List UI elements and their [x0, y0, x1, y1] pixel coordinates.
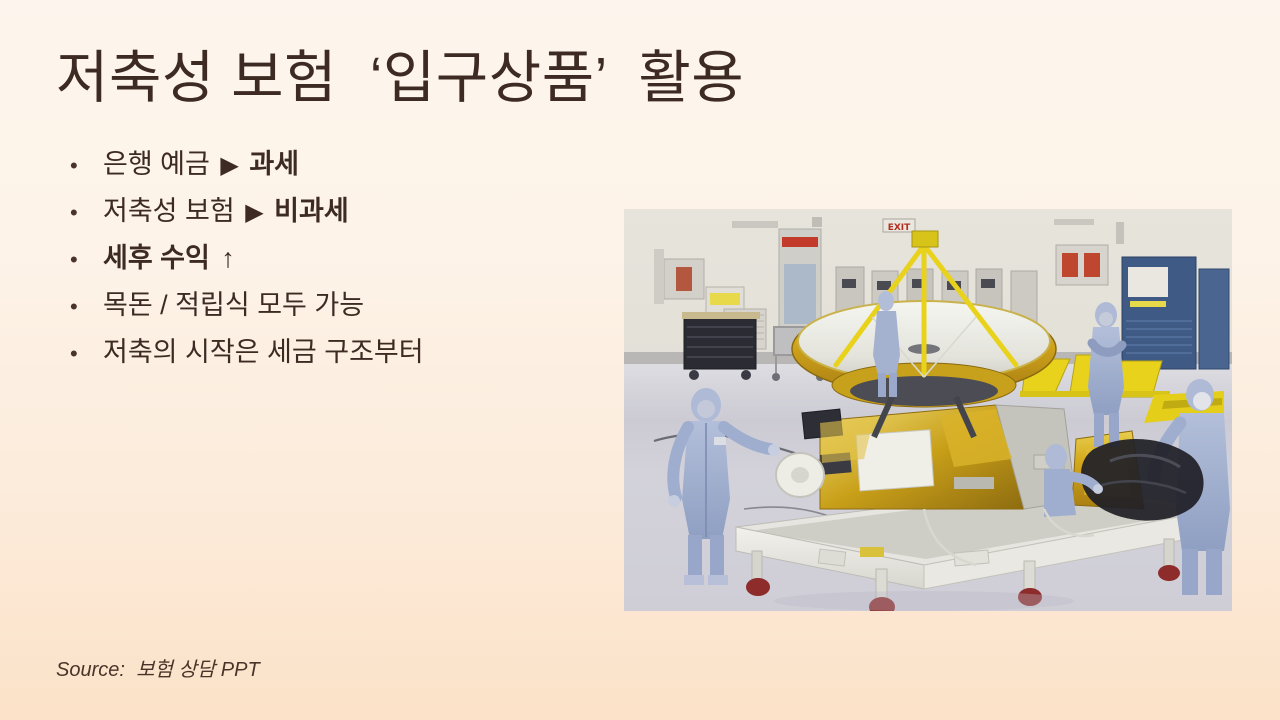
triangle-right-icon: ▶ — [217, 152, 241, 179]
list-item: • 저축의 시작은 세금 구조부터 — [60, 336, 600, 383]
list-item-text: 은행 예금 ▶ 과세 — [103, 148, 299, 181]
bullet-marker-icon: • — [60, 249, 103, 271]
list-item: • 목돈 / 적립식 모두 가능 — [60, 289, 600, 336]
slide-canvas: 저축성 보험 ‘입구상품’ 활용 • 은행 예금 ▶ 과세 • 저축성 보험 ▶… — [0, 0, 1280, 720]
bullet-marker-icon: • — [60, 202, 103, 224]
spacecraft-cleanroom-photo: EXIT — [624, 209, 1232, 611]
source-note: Source: 보험 상담 PPT — [56, 653, 260, 682]
list-item: • 세후 수익 ↑ — [60, 242, 600, 289]
list-item: • 저축성 보험 ▶ 비과세 — [60, 195, 600, 242]
list-item-emphasis: 비과세 — [267, 196, 349, 226]
bullet-marker-icon: • — [60, 155, 103, 177]
list-item-lead: 세후 수익 — [103, 243, 217, 273]
source-document: 보험 상담 PPT — [136, 659, 260, 681]
arrow-up-icon: ↑ — [217, 243, 235, 273]
list-item-emphasis: 과세 — [242, 149, 299, 179]
bullet-marker-icon: • — [60, 343, 103, 365]
source-label: Source: — [56, 659, 125, 681]
list-item: • 은행 예금 ▶ 과세 — [60, 148, 600, 195]
page-title: 저축성 보험 ‘입구상품’ 활용 — [56, 46, 744, 112]
list-item-text: 목돈 / 적립식 모두 가능 — [103, 289, 364, 321]
bullet-list: • 은행 예금 ▶ 과세 • 저축성 보험 ▶ 비과세 • 세후 수익 ↑ • … — [60, 148, 600, 383]
photo-illustration: EXIT — [624, 209, 1232, 611]
list-item-lead: 저축성 보험 — [103, 196, 242, 226]
list-item-lead: 은행 예금 — [103, 149, 217, 179]
list-item-text: 저축의 시작은 세금 구조부터 — [103, 336, 424, 368]
list-item-text: 저축성 보험 ▶ 비과세 — [103, 195, 349, 228]
exit-sign-text: EXIT — [888, 223, 911, 233]
triangle-right-icon: ▶ — [242, 199, 266, 226]
list-item-text: 세후 수익 ↑ — [103, 242, 235, 274]
bullet-marker-icon: • — [60, 296, 103, 318]
